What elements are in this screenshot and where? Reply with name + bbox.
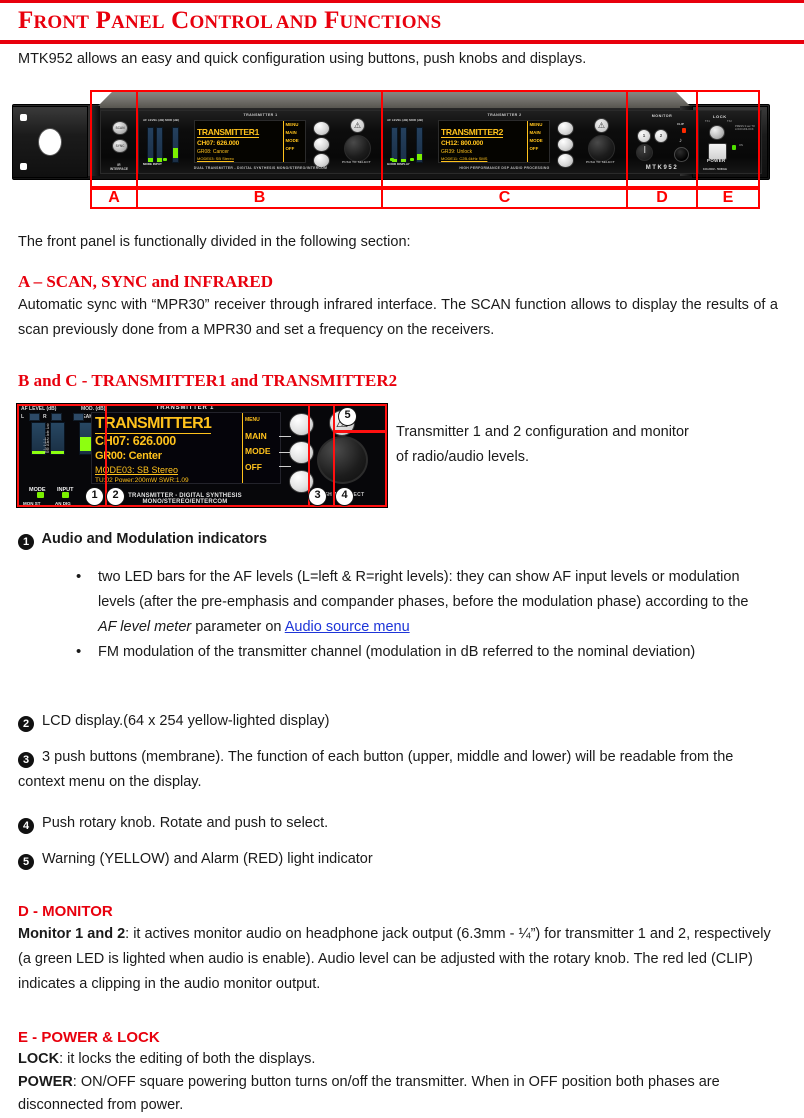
annotation-box-a	[90, 90, 138, 188]
annotation-box-c	[381, 90, 628, 188]
callout-badge-1: 1	[18, 534, 34, 550]
item-5: 5 Warning (YELLOW) and Alarm (RED) light…	[18, 847, 778, 872]
bullet-1-mid: parameter on	[191, 619, 285, 635]
detail-box-2	[105, 404, 310, 507]
section-a-heading: A – SCAN, SYNC and INFRARED	[18, 272, 273, 292]
item-1: 1 Audio and Modulation indicators	[18, 527, 778, 552]
annotation-label-c: C	[381, 188, 628, 208]
callout-badge-3: 3	[18, 752, 34, 768]
section-bc-caption: Transmitter 1 and 2 configuration and mo…	[396, 420, 786, 470]
section-bc-heading: B and C - TRANSMITTER1 and TRANSMITTER2	[18, 371, 397, 391]
page-title: FRONT PANEL CONTROL AND FUNCTIONS	[18, 7, 441, 37]
section-d-heading: D - MONITOR	[18, 903, 113, 921]
section-e-lock-line: LOCK: it locks the editing of both the d…	[18, 1048, 782, 1071]
item-5-text: Warning (YELLOW) and Alarm (RED) light i…	[42, 851, 373, 867]
item-3-text: 3 push buttons (membrane). The function …	[18, 749, 733, 790]
rack-screw-slot	[20, 163, 27, 170]
bullet-2-text: FM modulation of the transmitter channel…	[98, 644, 695, 660]
item-3: 3 3 push buttons (membrane). The functio…	[18, 745, 778, 795]
item-1-bullets: two LED bars for the AF levels (L=left &…	[64, 565, 764, 665]
section-bc-caption-line2: of radio/audio levels.	[396, 445, 786, 470]
annotation-label-e: E	[696, 188, 760, 208]
section-e-lock-bold: LOCK	[18, 1051, 59, 1067]
top-rule	[0, 0, 804, 3]
section-e-power-text: : ON/OFF square powering button turns on…	[18, 1074, 720, 1113]
section-d-body: Monitor 1 and 2: it actives monitor audi…	[18, 922, 782, 997]
item-2-text: LCD display.(64 x 254 yellow-lighted dis…	[42, 713, 329, 729]
section-a-body: Automatic sync with “MPR30” receiver thr…	[18, 293, 778, 343]
divided-paragraph: The front panel is functionally divided …	[18, 230, 778, 255]
section-d-body-text: : it actives monitor audio on headphone …	[18, 926, 771, 992]
item-4: 4 Push rotary knob. Rotate and push to s…	[18, 811, 778, 836]
page-header: FRONT PANEL CONTROL AND FUNCTIONS	[18, 7, 441, 37]
detail-callout-4: 4	[335, 487, 354, 506]
detail-callout-1: 1	[85, 487, 104, 506]
annotation-label-b: B	[136, 188, 383, 208]
transmitter-detail-photo: AF LEVEL (dB) MOD. (dB) L R PEAK 0 -3 -6…	[16, 403, 388, 508]
bullet-1-pre: two LED bars for the AF levels (L=left &…	[98, 569, 748, 610]
list-item: two LED bars for the AF levels (L=left &…	[64, 565, 764, 640]
list-item: FM modulation of the transmitter channel…	[64, 640, 764, 665]
section-d-bold-lead: Monitor 1 and 2	[18, 926, 125, 942]
annotation-label-a: A	[90, 188, 138, 208]
detail-callout-2: 2	[106, 487, 125, 506]
header-rule	[0, 40, 804, 44]
annotation-label-d: D	[626, 188, 698, 208]
callout-badge-2: 2	[18, 716, 34, 732]
section-e-power-line: POWER: ON/OFF square powering button tur…	[18, 1071, 782, 1117]
rack-ear-left	[12, 106, 88, 178]
item-2: 2 LCD display.(64 x 254 yellow-lighted d…	[18, 709, 778, 734]
section-e-heading: E - POWER & LOCK	[18, 1029, 160, 1047]
detail-callout-3: 3	[308, 487, 327, 506]
callout-badge-4: 4	[18, 818, 34, 834]
annotation-box-b	[136, 90, 383, 188]
item-1-title: Audio and Modulation indicators	[42, 531, 268, 547]
rack-ear-hole	[39, 129, 61, 155]
detail-callout-5: 5	[338, 407, 357, 426]
annotation-box-d	[626, 90, 698, 188]
front-panel-photo: SCAN SYNC IR INTERFACE TRANSMITTER 1 AF …	[10, 90, 770, 188]
audio-source-menu-link[interactable]: Audio source menu	[285, 619, 410, 635]
callout-badge-5: 5	[18, 854, 34, 870]
section-e-lock-text: : it locks the editing of both the displ…	[59, 1051, 315, 1067]
section-bc-caption-line1: Transmitter 1 and 2 configuration and mo…	[396, 420, 786, 445]
rack-screw-slot	[20, 114, 27, 121]
section-e-power-bold: POWER	[18, 1074, 73, 1090]
document-page: FRONT PANEL CONTROL AND FUNCTIONS MTK952…	[0, 0, 804, 1118]
item-4-text: Push rotary knob. Rotate and push to sel…	[42, 815, 328, 831]
bullet-1-italic: AF level meter	[98, 619, 191, 635]
section-e-body: LOCK: it locks the editing of both the d…	[18, 1048, 782, 1117]
annotation-box-e	[696, 90, 760, 188]
intro-paragraph: MTK952 allows an easy and quick configur…	[18, 47, 778, 72]
